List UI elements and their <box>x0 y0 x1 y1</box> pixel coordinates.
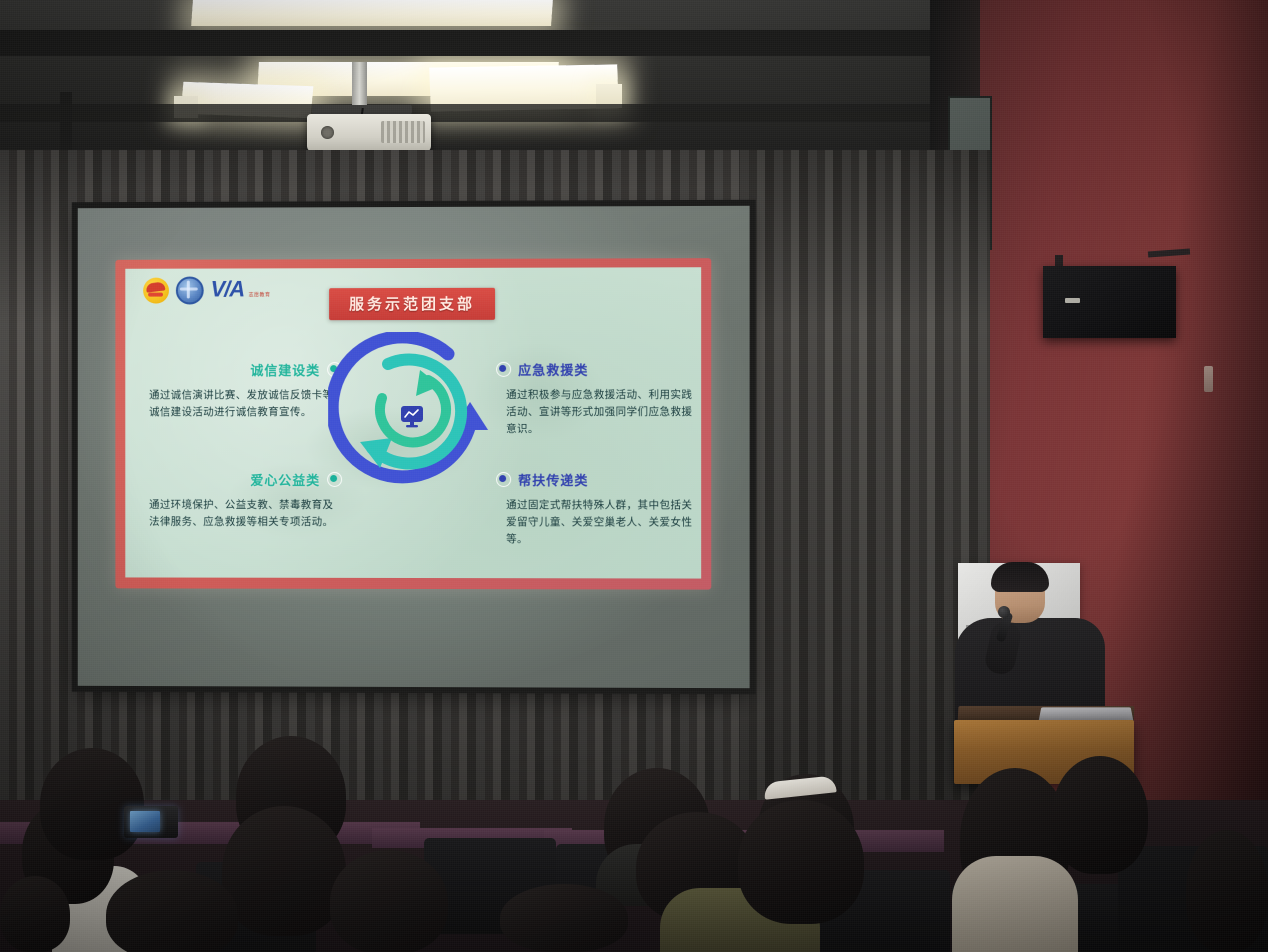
quadrant-heading: 诚信建设类 <box>143 360 342 379</box>
via-logo-subtext: 志愿教育 <box>249 292 271 298</box>
globe-logo <box>176 277 204 305</box>
quadrant-heading: 应急救援类 <box>496 360 697 379</box>
wall-mounted-speaker <box>1043 266 1176 338</box>
audience-head <box>330 850 448 952</box>
presenter-hair <box>991 562 1049 592</box>
quadrant-body-text: 通过固定式帮扶特殊人群，其中包括关爱留守儿童、关爱空巢老人、关爱女性等。 <box>496 497 697 548</box>
lecture-hall-scene: V/A 志愿教育 服务示范团支部 诚信建设类 通过诚信演讲比赛、发放诚信反馈卡等… <box>0 0 1268 952</box>
light-switch[interactable] <box>1204 366 1213 392</box>
ceiling-light-panel <box>191 0 553 26</box>
presentation-slide: V/A 志愿教育 服务示范团支部 诚信建设类 通过诚信演讲比赛、发放诚信反馈卡等… <box>115 258 711 589</box>
quadrant-top-left: 诚信建设类 通过诚信演讲比赛、发放诚信反馈卡等诚信建设活动进行诚信教育宣传。 <box>143 360 342 421</box>
page-title: 服务示范团支部 <box>349 296 475 313</box>
audience-head <box>222 806 346 936</box>
audience-head <box>738 800 864 924</box>
audience-head <box>106 870 238 952</box>
camera-screen <box>130 811 160 832</box>
audience-head <box>1052 756 1148 874</box>
quadrant-title: 应急救援类 <box>518 360 588 379</box>
audience-head <box>1186 830 1268 952</box>
quadrant-title: 诚信建设类 <box>250 360 320 379</box>
monitor-chart-icon <box>399 403 425 429</box>
speaker-badge <box>1065 298 1080 303</box>
ceiling-projector <box>307 114 431 152</box>
via-wordmark-logo: V/A 志愿教育 <box>211 279 271 301</box>
circular-arrows-diagram <box>328 332 496 500</box>
microphone-head <box>998 606 1010 618</box>
sun-emblem-logo <box>143 278 169 304</box>
audience-camera[interactable] <box>124 806 178 838</box>
bullet-dot-icon <box>496 362 511 377</box>
quadrant-body-text: 通过环境保护、公益支教、禁毒教育及法律服务、应急救援等相关专项活动。 <box>143 497 342 531</box>
quadrant-bottom-left: 爱心公益类 通过环境保护、公益支教、禁毒教育及法律服务、应急救援等相关专项活动。 <box>143 470 342 531</box>
quadrant-title: 爱心公益类 <box>250 470 320 489</box>
projector-vent <box>381 121 425 143</box>
slide-logo-row: V/A 志愿教育 <box>143 276 270 304</box>
audience-person-body <box>952 856 1078 952</box>
slide-content-area: V/A 志愿教育 服务示范团支部 诚信建设类 通过诚信演讲比赛、发放诚信反馈卡等… <box>125 267 701 578</box>
projection-screen: V/A 志愿教育 服务示范团支部 诚信建设类 通过诚信演讲比赛、发放诚信反馈卡等… <box>78 206 750 688</box>
audience-head <box>40 748 144 860</box>
quadrant-heading: 帮扶传递类 <box>496 470 697 489</box>
projector-mount-pole <box>352 62 367 110</box>
quadrant-heading: 爱心公益类 <box>143 470 342 489</box>
bullet-dot-icon <box>496 472 511 487</box>
audience-head <box>500 884 628 952</box>
quadrant-body-text: 通过诚信演讲比赛、发放诚信反馈卡等诚信建设活动进行诚信教育宣传。 <box>143 387 342 421</box>
projector-lens <box>321 126 334 139</box>
quadrant-body-text: 通过积极参与应急救援活动、利用实践活动、宣讲等形式加强同学们应急救援意识。 <box>496 387 697 438</box>
slide-title-banner: 服务示范团支部 <box>329 288 495 320</box>
quadrant-title: 帮扶传递类 <box>518 470 588 489</box>
podium-laptop <box>1039 707 1134 721</box>
audience-head <box>0 876 70 952</box>
quadrant-bottom-right: 帮扶传递类 通过固定式帮扶特殊人群，其中包括关爱留守儿童、关爱空巢老人、关爱女性… <box>496 470 697 548</box>
quadrant-top-right: 应急救援类 通过积极参与应急救援活动、利用实践活动、宣讲等形式加强同学们应急救援… <box>496 360 697 438</box>
